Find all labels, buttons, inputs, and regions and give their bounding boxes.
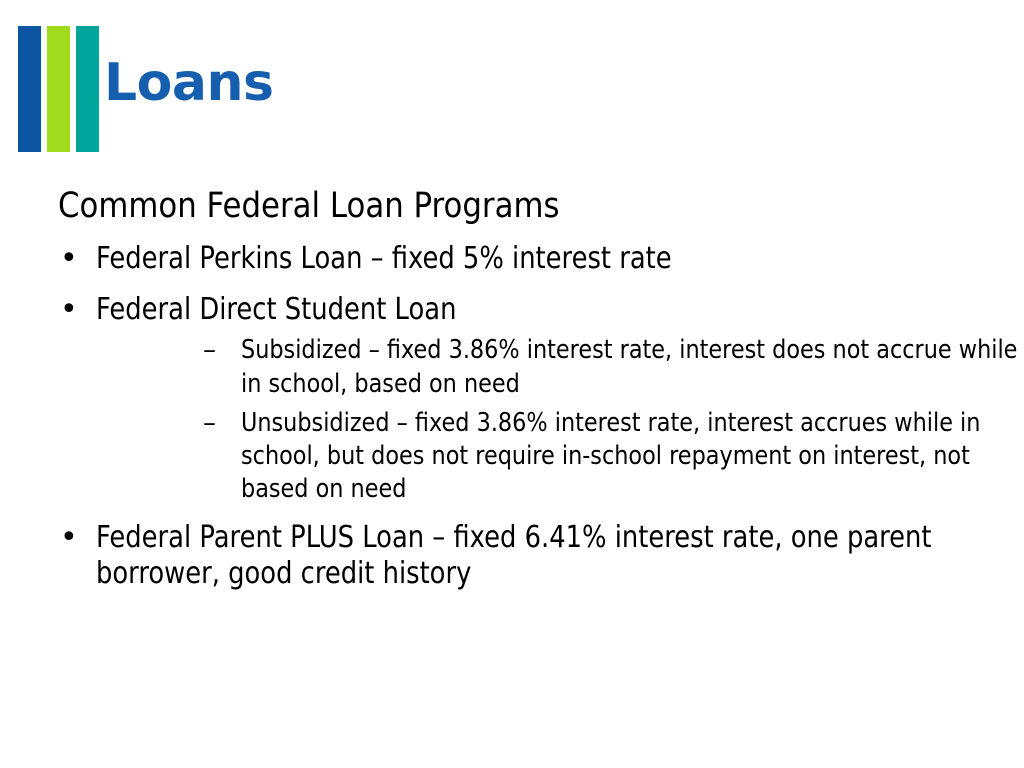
bullet-text-direct-student-loan: Federal Direct Student Loan (96, 292, 1022, 329)
logo-bar-blue (18, 26, 41, 152)
bullet-item-direct-student-loan: • Federal Direct Student Loan – Subsidiz… (0, 292, 1024, 506)
slide: Loans Common Federal Loan Programs • Fed… (0, 0, 1024, 768)
slide-title: Loans (104, 57, 273, 109)
sub-bullet-text-unsubsidized: Unsubsidized – fixed 3.86% interest rate… (241, 407, 1022, 506)
bullet-item-perkins-loan: • Federal Perkins Loan – fixed 5% intere… (0, 241, 1024, 278)
sub-bullet-list: – Subsidized – fixed 3.86% interest rate… (96, 334, 1024, 505)
three-bar-logo (18, 26, 99, 152)
bullet-text-perkins-loan: Federal Perkins Loan – fixed 5% interest… (96, 241, 1022, 278)
logo-bar-teal (76, 26, 99, 152)
section-heading: Common Federal Loan Programs (58, 186, 908, 227)
bullet-dot-icon: • (60, 520, 78, 557)
slide-body: Common Federal Loan Programs • Federal P… (0, 186, 1024, 607)
bullet-dash-icon: – (203, 407, 216, 440)
bullet-list: • Federal Perkins Loan – fixed 5% intere… (0, 241, 1024, 592)
logo-bar-green (47, 26, 70, 152)
bullet-dot-icon: • (60, 292, 78, 329)
bullet-text-parent-plus-loan: Federal Parent PLUS Loan – fixed 6.41% i… (96, 520, 1022, 593)
bullet-dot-icon: • (60, 241, 78, 278)
bullet-dash-icon: – (203, 334, 216, 367)
slide-header: Loans (0, 0, 1024, 175)
sub-bullet-item-subsidized: – Subsidized – fixed 3.86% interest rate… (96, 334, 1024, 400)
sub-bullet-text-subsidized: Subsidized – fixed 3.86% interest rate, … (241, 334, 1022, 400)
bullet-item-parent-plus-loan: • Federal Parent PLUS Loan – fixed 6.41%… (0, 520, 1024, 593)
sub-bullet-item-unsubsidized: – Unsubsidized – fixed 3.86% interest ra… (96, 407, 1024, 506)
